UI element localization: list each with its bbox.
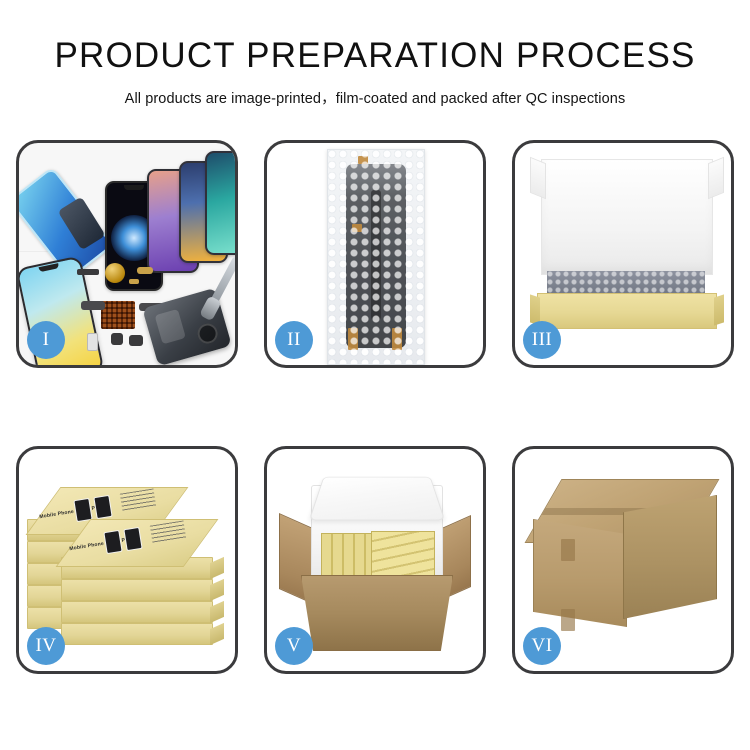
kraft-box-icon: [61, 623, 213, 645]
box-phone-print-icon: [93, 495, 112, 519]
tape-tab-icon: [358, 156, 368, 164]
connector-part-icon: [77, 269, 99, 275]
kraft-tray-box-icon: [537, 293, 717, 329]
process-step-6: VI: [512, 446, 734, 674]
flex-cable-icon: [81, 301, 105, 310]
teal-phone-screen-icon: [205, 151, 235, 255]
tape-tab-icon: [348, 328, 358, 350]
sim-tray-icon: [87, 333, 98, 351]
carton-tape-icon: [561, 539, 575, 561]
chip-array-icon: [101, 301, 135, 329]
process-step-5: V: [264, 446, 486, 674]
wrapped-screen-icon: [346, 164, 406, 348]
step-badge-3: III: [523, 321, 561, 359]
page-title: PRODUCT PREPARATION PROCESS: [0, 38, 750, 75]
screwdriver-icon: [209, 256, 235, 306]
process-step-grid: I II III: [16, 140, 734, 674]
step-badge-5: V: [275, 627, 313, 665]
notch-icon: [124, 185, 144, 190]
header: PRODUCT PREPARATION PROCESS All products…: [0, 0, 750, 108]
process-step-2: II: [264, 140, 486, 368]
bubble-wrap-bag-icon: [327, 149, 425, 365]
tape-tab-icon: [352, 224, 362, 232]
speaker-coil-icon: [105, 263, 125, 283]
gold-bracket-icon: [129, 279, 139, 284]
carton-tape-icon: [561, 609, 575, 631]
step-badge-1: I: [27, 321, 65, 359]
product-preparation-infographic: PRODUCT PREPARATION PROCESS All products…: [0, 0, 750, 750]
step-badge-2: II: [275, 321, 313, 359]
carton-right-face-icon: [623, 495, 717, 619]
kraft-box-icon: [61, 579, 213, 601]
box-phone-print-icon: [123, 527, 142, 551]
foam-lid-icon: [309, 477, 446, 521]
tape-tab-icon: [392, 328, 402, 350]
camera-module-icon: [111, 333, 123, 345]
yellow-boxes-icon: [371, 531, 435, 579]
process-step-4: Mobile Phone Spare Parts Mobile Phone Sp…: [16, 446, 238, 674]
box-phone-print-icon: [103, 530, 122, 554]
foam-sheet-icon: [541, 159, 713, 275]
gold-contact-icon: [137, 267, 153, 274]
notch-icon: [39, 263, 60, 272]
carton-left-face-icon: [533, 519, 627, 627]
vibration-motor-icon: [129, 335, 143, 346]
page-subtitle: All products are image-printed，film-coat…: [0, 87, 750, 108]
step-badge-6: VI: [523, 627, 561, 665]
process-step-3: III: [512, 140, 734, 368]
carton-body-icon: [301, 575, 453, 651]
kraft-box-icon: [61, 601, 213, 623]
process-step-1: I: [16, 140, 238, 368]
step-badge-4: IV: [27, 627, 65, 665]
